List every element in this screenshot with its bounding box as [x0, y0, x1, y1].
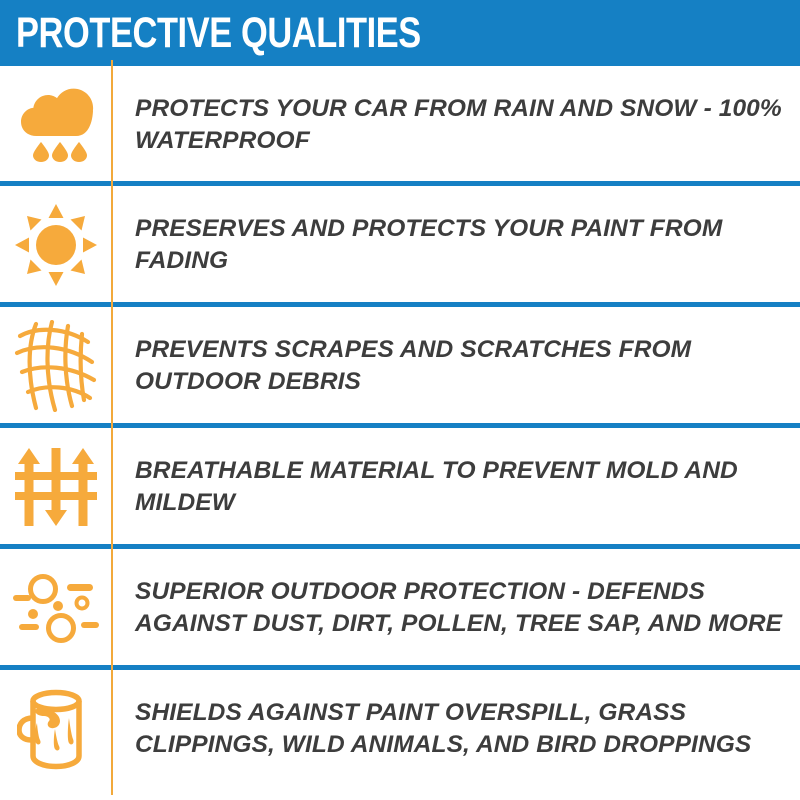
feature-row: BREATHABLE MATERIAL TO PREVENT MOLD AND …: [0, 426, 800, 547]
feature-text: SUPERIOR OUTDOOR PROTECTION - DEFENDS AG…: [135, 576, 786, 640]
feature-text: SHIELDS AGAINST PAINT OVERSPILL, GRASS C…: [135, 697, 786, 761]
feature-row: PROTECTS YOUR CAR FROM RAIN AND SNOW - 1…: [0, 66, 800, 184]
vertical-divider: [111, 420, 113, 553]
breathable-airflow-arrows-icon: [15, 448, 97, 526]
text-cell: PROTECTS YOUR CAR FROM RAIN AND SNOW - 1…: [111, 93, 800, 157]
rain-cloud-icon: [18, 88, 94, 162]
text-cell: SUPERIOR OUTDOOR PROTECTION - DEFENDS AG…: [111, 576, 800, 640]
vertical-divider: [111, 60, 113, 190]
icon-cell: [0, 426, 111, 547]
vertical-divider: [111, 662, 113, 795]
vertical-divider: [111, 299, 113, 432]
feature-text: PREVENTS SCRAPES AND SCRATCHES FROM OUTD…: [135, 334, 786, 398]
feature-text: PROTECTS YOUR CAR FROM RAIN AND SNOW - 1…: [135, 93, 786, 157]
dust-particles-icon: [13, 570, 99, 646]
icon-cell: [0, 66, 111, 184]
text-cell: BREATHABLE MATERIAL TO PREVENT MOLD AND …: [111, 455, 800, 519]
feature-row: SHIELDS AGAINST PAINT OVERSPILL, GRASS C…: [0, 668, 800, 789]
infographic-page: PROTECTIVE QUALITIES: [0, 0, 800, 800]
text-cell: PRESERVES AND PROTECTS YOUR PAINT FROM F…: [111, 213, 800, 277]
feature-row: SUPERIOR OUTDOOR PROTECTION - DEFENDS AG…: [0, 547, 800, 668]
feature-list: PROTECTS YOUR CAR FROM RAIN AND SNOW - 1…: [0, 66, 800, 800]
feature-text: BREATHABLE MATERIAL TO PREVENT MOLD AND …: [135, 455, 786, 519]
vertical-divider: [111, 541, 113, 674]
scratch-mesh-icon: [14, 320, 98, 412]
feature-text: PRESERVES AND PROTECTS YOUR PAINT FROM F…: [135, 213, 786, 277]
vertical-divider: [111, 178, 113, 311]
page-title: PROTECTIVE QUALITIES: [16, 12, 421, 55]
feature-row: PREVENTS SCRAPES AND SCRATCHES FROM OUTD…: [0, 305, 800, 426]
icon-cell: [0, 547, 111, 668]
icon-cell: [0, 184, 111, 305]
text-cell: SHIELDS AGAINST PAINT OVERSPILL, GRASS C…: [111, 697, 800, 761]
icon-cell: [0, 305, 111, 426]
paint-bucket-icon: [17, 688, 95, 770]
icon-cell: [0, 668, 111, 789]
sun-icon: [15, 204, 97, 286]
header-banner: PROTECTIVE QUALITIES: [0, 0, 800, 66]
text-cell: PREVENTS SCRAPES AND SCRATCHES FROM OUTD…: [111, 334, 800, 398]
feature-row: PRESERVES AND PROTECTS YOUR PAINT FROM F…: [0, 184, 800, 305]
